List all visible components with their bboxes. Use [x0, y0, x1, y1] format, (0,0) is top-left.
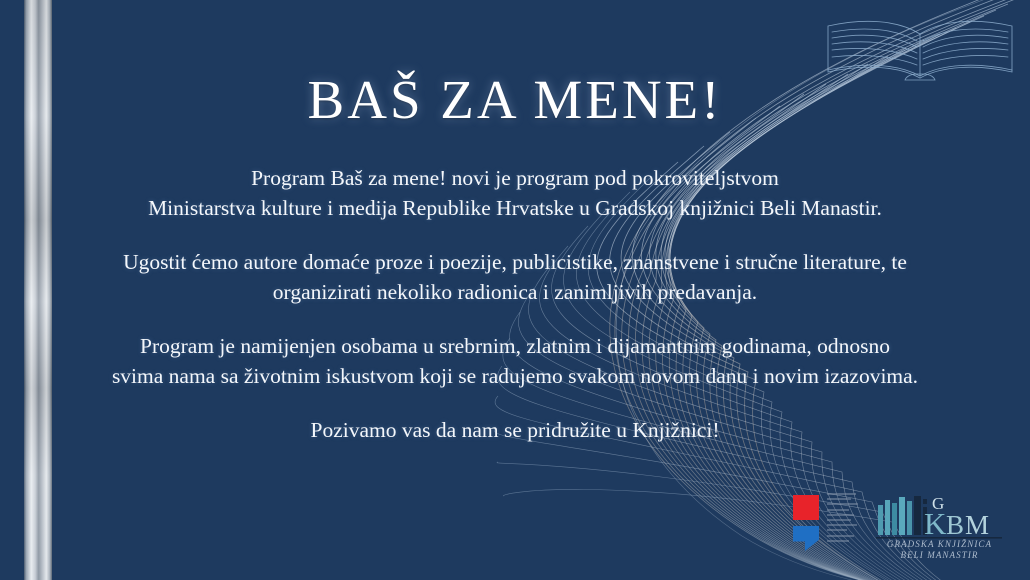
paragraph-2-line-2: organizirati nekoliko radionica i zaniml… [273, 280, 757, 304]
paragraph-1: Program Baš za mene! novi je program pod… [60, 163, 970, 223]
library-name: GRADSKA KNJIŽNICA BELI MANASTIR [872, 539, 1007, 561]
gkbm-mark: G K B M [872, 487, 1007, 543]
logo-letter-m: M [965, 510, 989, 540]
library-logo: G K B M GRADSKA KNJIŽNICA BELI MANASTIR [872, 487, 1007, 567]
logo-group: G K B M GRADSKA KNJIŽNICA BELI MANASTIR [780, 483, 1015, 568]
book-spine-bars [878, 496, 927, 535]
paragraph-1-line-2: Ministarstva kulture i medija Republike … [148, 196, 882, 220]
paragraph-2: Ugostit ćemo autore domaće proze i poezi… [60, 247, 970, 307]
paragraph-3: Program je namijenjen osobama u srebrnim… [60, 331, 970, 391]
paragraph-2-line-1: Ugostit ćemo autore domaće proze i poezi… [123, 250, 907, 274]
slide-canvas: BAŠ ZA MENE! Program Baš za mene! novi j… [0, 0, 1030, 580]
ministry-red-square-icon [793, 495, 819, 520]
ministry-of-culture-logo [785, 493, 863, 563]
body-copy: Program Baš za mene! novi je program pod… [60, 163, 970, 445]
page-title: BAŠ ZA MENE! [60, 72, 970, 127]
paragraph-3-line-1: Program je namijenjen osobama u srebrnim… [140, 334, 890, 358]
library-name-line-1: GRADSKA KNJIŽNICA [872, 539, 1007, 550]
ministry-blue-comma-icon [793, 526, 819, 551]
logo-letter-k: K [924, 506, 947, 541]
logo-letter-b: B [946, 510, 964, 540]
library-name-line-2: BELI MANASTIR [872, 550, 1007, 561]
silver-accent-bar [24, 0, 52, 580]
ministry-wordmark-lines [827, 493, 861, 555]
paragraph-4: Pozivamo vas da nam se pridružite u Knji… [60, 415, 970, 445]
paragraph-3-line-2: svima nama sa životnim iskustvom koji se… [112, 364, 918, 388]
paragraph-4-line-1: Pozivamo vas da nam se pridružite u Knji… [311, 418, 720, 442]
paragraph-1-line-1: Program Baš za mene! novi je program pod… [251, 166, 779, 190]
